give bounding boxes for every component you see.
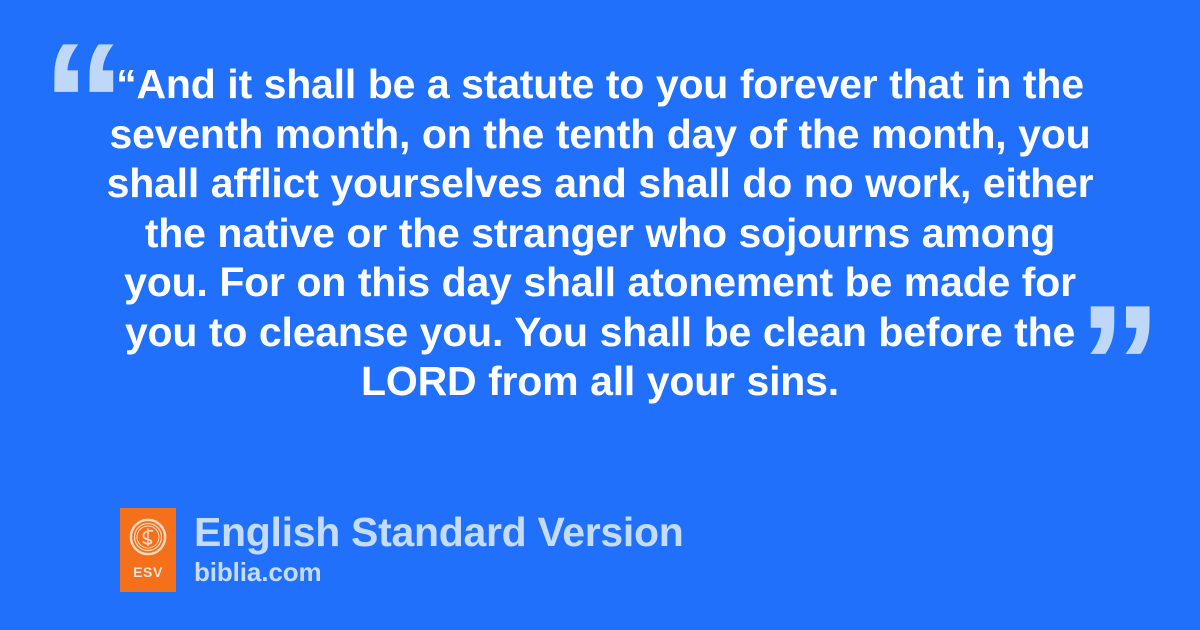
attribution-footer: ESV English Standard Version biblia.com <box>120 508 683 592</box>
bible-version-name: English Standard Version <box>194 509 683 555</box>
site-name-link[interactable]: biblia.com <box>194 557 683 587</box>
esv-logo-tile[interactable]: ESV <box>120 508 176 592</box>
verse-text-block: “And it shall be a statute to you foreve… <box>100 60 1100 407</box>
attribution-text-group: English Standard Version biblia.com <box>194 509 683 591</box>
verse-card: “ ” “And it shall be a statute to you fo… <box>0 0 1200 630</box>
verse-text: “And it shall be a statute to you foreve… <box>100 60 1100 407</box>
esv-seal-icon <box>129 518 167 556</box>
esv-logo-abbreviation: ESV <box>133 565 163 579</box>
